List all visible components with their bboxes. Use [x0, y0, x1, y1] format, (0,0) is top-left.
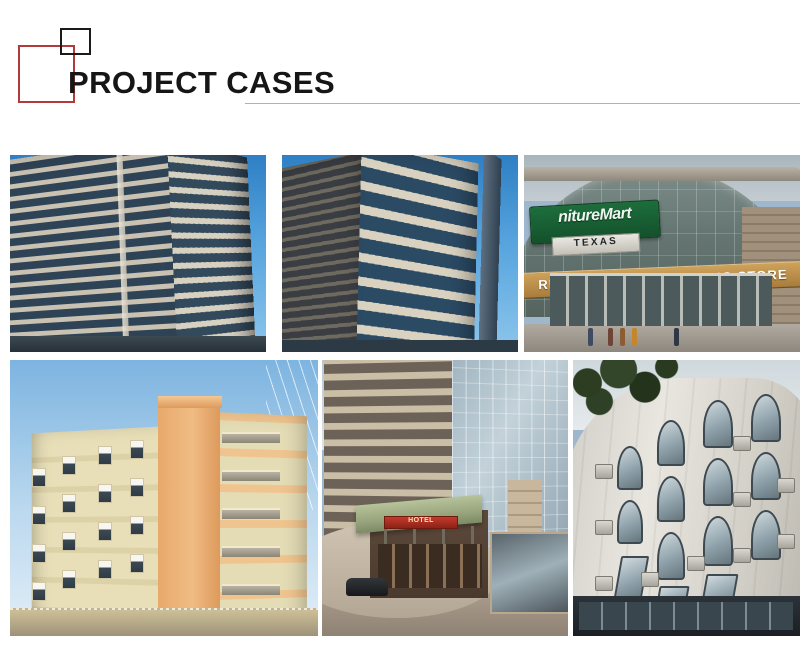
ac-unit	[777, 478, 795, 493]
parked-car	[346, 578, 388, 596]
window	[62, 532, 76, 551]
window	[62, 570, 76, 589]
pedestrian	[632, 328, 637, 346]
ground-floor-shopfront	[490, 532, 568, 614]
window	[32, 582, 46, 601]
window	[98, 446, 112, 465]
hotel-entrance-sign-text: HOTEL	[385, 517, 457, 524]
window	[32, 544, 46, 563]
store-state-sign-text: TEXAS	[553, 235, 639, 250]
window	[32, 468, 46, 487]
ac-unit	[595, 520, 613, 535]
window	[617, 500, 643, 544]
window	[130, 554, 144, 573]
ac-unit	[641, 572, 659, 587]
pedestrian	[620, 328, 625, 346]
building-corner-column	[158, 404, 220, 636]
foreground-tree	[573, 360, 681, 426]
project-photo-1[interactable]	[10, 155, 266, 352]
building-right-wing	[216, 412, 307, 636]
window	[98, 522, 112, 541]
street-base	[282, 340, 518, 352]
window	[98, 484, 112, 503]
entrance-doors	[550, 273, 772, 326]
ground-base	[10, 610, 318, 636]
window	[32, 506, 46, 525]
tower-facade-side	[167, 155, 256, 352]
dome-cornice	[524, 167, 800, 181]
window	[130, 440, 144, 459]
window	[98, 560, 112, 579]
project-photo-5[interactable]: HOTEL	[322, 360, 568, 636]
window	[130, 478, 144, 497]
balcony	[222, 432, 280, 443]
street-base	[10, 336, 266, 352]
ac-unit	[733, 436, 751, 451]
ac-unit	[777, 534, 795, 549]
balcony	[222, 584, 280, 595]
roof-cornice	[158, 396, 222, 408]
balcony	[222, 508, 280, 519]
hotel-entrance-sign: HOTEL	[384, 516, 458, 529]
window	[657, 420, 685, 466]
ac-unit	[733, 548, 751, 563]
ac-unit	[733, 492, 751, 507]
project-photo-4[interactable]	[10, 360, 318, 636]
balcony	[222, 546, 280, 557]
tower-facade-main	[356, 155, 478, 352]
window	[617, 446, 643, 490]
window	[62, 456, 76, 475]
project-cases-gallery: nitureMart TEXAS RICA'S HOME FURNISHING …	[0, 0, 800, 666]
project-photo-6[interactable]	[573, 360, 800, 636]
window	[62, 494, 76, 513]
plaza-pavement	[524, 324, 800, 352]
pedestrian	[608, 328, 613, 346]
store-brand-sign-text: nitureMart	[530, 203, 659, 228]
entrance-doors	[378, 544, 482, 588]
ac-unit	[687, 556, 705, 571]
window	[130, 516, 144, 535]
window	[657, 476, 685, 522]
ac-unit	[595, 576, 613, 591]
balcony	[222, 470, 280, 481]
project-photo-3[interactable]: nitureMart TEXAS RICA'S HOME FURNISHING …	[524, 155, 800, 352]
pedestrian	[674, 328, 679, 346]
ground-floor-glazing	[579, 602, 793, 630]
ac-unit	[595, 464, 613, 479]
pedestrian	[588, 328, 593, 346]
project-photo-2[interactable]	[282, 155, 518, 352]
